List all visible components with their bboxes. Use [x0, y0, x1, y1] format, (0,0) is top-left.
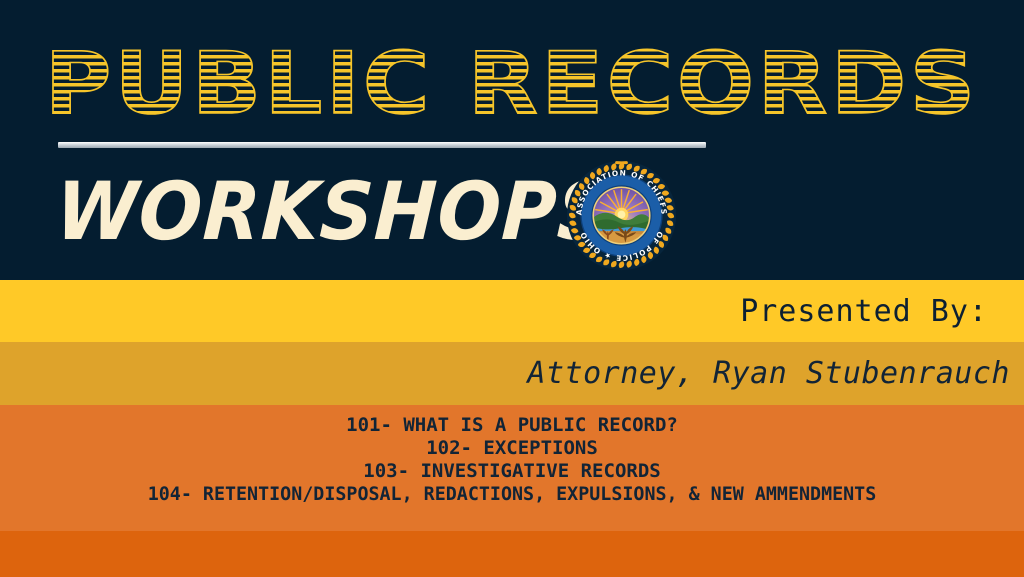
subtitle-row: WORKSHOPS — [0, 160, 1024, 270]
presentation-slide: PUBLIC RECORDS PUBLIC RECORDS WORKSHOPS — [0, 0, 1024, 577]
slide-subtitle: WORKSHOPS — [54, 166, 614, 258]
course-item: 104- RETENTION/DISPOSAL, REDACTIONS, EXP… — [18, 483, 1006, 506]
hero-section: PUBLIC RECORDS PUBLIC RECORDS WORKSHOPS — [0, 0, 1024, 280]
slide-title-container: PUBLIC RECORDS — [0, 34, 1024, 134]
slide-title: PUBLIC RECORDS — [45, 34, 979, 134]
title-divider-rule — [58, 142, 706, 148]
presented-by-label: Presented By: — [740, 280, 988, 342]
course-item: 101- WHAT IS A PUBLIC RECORD? — [0, 414, 1024, 437]
course-item: 103- INVESTIGATIVE RECORDS — [0, 460, 1024, 483]
oacp-seal-logo: ASSOCIATION OF CHIEFS OF POLICE ★ OHIO — [563, 157, 680, 274]
presenter-name: Attorney, Ryan Stubenrauch — [527, 342, 1010, 405]
course-list: 101- WHAT IS A PUBLIC RECORD? 102- EXCEP… — [0, 414, 1024, 506]
course-item: 102- EXCEPTIONS — [0, 437, 1024, 460]
band-deep-orange — [0, 531, 1024, 577]
